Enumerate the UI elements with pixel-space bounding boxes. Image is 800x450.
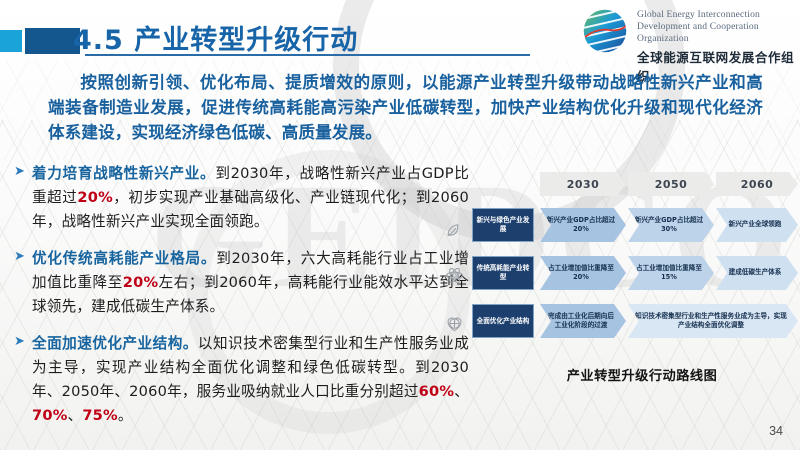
intro-text: 按照创新引领、优化布局、提质增效的原则，以能源产业转型升级带动战略性新兴产业和高…	[48, 73, 763, 142]
roadmap-cell: 建成低碳生产体系	[716, 256, 798, 290]
roadmap-row: 新兴与绿色产业发展 新兴产业GDP占比超过20% 新兴产业GDP占比超过30% …	[440, 208, 798, 242]
bullet-heading: 着力培育战略性新兴产业。	[32, 165, 215, 182]
list-item: ➤ 着力培育战略性新兴产业。到2030年，战略性新兴产业占GDP比重超过20%，…	[14, 162, 469, 234]
bullet-highlight-1: 20%	[123, 274, 159, 291]
year-header-row: 2030 2050 2060	[540, 172, 798, 196]
bullet-list: ➤ 着力培育战略性新兴产业。到2030年，战略性新兴产业占GDP比重超过20%，…	[14, 162, 469, 441]
intro-paragraph: 按照创新引领、优化布局、提质增效的原则，以能源产业转型升级带动战略性新兴产业和高…	[48, 70, 763, 145]
bullet-arrow-icon: ➤	[14, 249, 25, 264]
bullet-highlight-1: 20%	[77, 189, 113, 206]
bullet-heading: 优化传统高耗能产业格局。	[32, 250, 216, 267]
roadmap-cell: 占工业增加值比重降至15%	[628, 256, 714, 290]
roadmap-row: 全面优化产业结构 完成由工业化后期向后工业化阶段的过渡 知识技术密集型行业和生产…	[440, 304, 798, 338]
diagram-caption: 产业转型升级行动路线图	[527, 365, 757, 384]
page-title: 4.5 产业转型升级行动	[73, 18, 358, 57]
slide-header: 4.5 产业转型升级行动	[0, 0, 800, 62]
list-item: ➤ 优化传统高耗能产业格局。到2030年，六大高耗能行业占工业增加值比重降至20…	[14, 247, 469, 319]
year-chevron-2060: 2060	[716, 172, 798, 196]
logo-en-line2: Development and Cooperation Organization	[637, 21, 800, 45]
roadmap-diagram: 2030 2050 2060 新兴与绿色产业发展 新兴产业GDP占比超过20% …	[440, 172, 798, 372]
row-label: 全面优化产业结构	[472, 304, 534, 338]
year-chevron-2030: 2030	[540, 172, 626, 196]
logo-en-line1: Global Energy Interconnection	[637, 9, 800, 21]
roadmap-cell: 新兴产业GDP占比超过30%	[628, 208, 714, 242]
title-underline	[85, 54, 530, 56]
bullet-text: 优化传统高耗能产业格局。到2030年，六大高耗能行业占工业增加值比重降至20%左…	[32, 247, 469, 319]
roadmap-cell: 新兴产业GDP占比超过20%	[540, 208, 626, 242]
globe-logo-icon	[580, 6, 630, 56]
header-accent-block-dark	[25, 28, 80, 54]
roadmap-row: 传统高耗能产业转型 占工业增加值比重降至20% 占工业增加值比重降至15% 建成…	[440, 256, 798, 290]
year-chevron-2050: 2050	[628, 172, 714, 196]
slide-root: GEIDCO 4.5 产业转型升级行动	[0, 0, 800, 450]
row-label: 传统高耗能产业转型	[472, 256, 534, 290]
bullet-highlight-2: 70%	[32, 407, 68, 424]
bullet-heading: 全面加速优化产业结构。	[32, 335, 198, 352]
bullet-text: 全面加速优化产业结构。以知识技术密集型行业和生产性服务业成为主导，实现产业结构全…	[32, 332, 469, 428]
list-item: ➤ 全面加速优化产业结构。以知识技术密集型行业和生产性服务业成为主导，实现产业结…	[14, 332, 469, 428]
header-accent-block-light	[0, 30, 22, 52]
bullet-text: 着力培育战略性新兴产业。到2030年，战略性新兴产业占GDP比重超过20%，初步…	[32, 162, 469, 234]
row-label: 新兴与绿色产业发展	[472, 208, 534, 242]
roadmap-cell: 知识技术密集型行业和生产性服务业成为主导，实现产业结构全面优化调整	[628, 304, 798, 338]
bullet-separator-2: 、	[68, 407, 83, 424]
bullet-highlight-3: 75%	[82, 407, 118, 424]
bullet-arrow-icon: ➤	[14, 164, 25, 179]
roadmap-cell: 完成由工业化后期向后工业化阶段的过渡	[540, 304, 626, 338]
roadmap-cell: 占工业增加值比重降至20%	[540, 256, 626, 290]
page-number: 34	[769, 424, 783, 438]
bullet-segment-2: 。	[118, 407, 133, 424]
bullet-separator-1: 、	[454, 383, 469, 400]
bullet-arrow-icon: ➤	[14, 334, 25, 349]
roadmap-cell: 新兴产业全球领跑	[716, 208, 798, 242]
bullet-highlight-1: 60%	[419, 383, 455, 400]
